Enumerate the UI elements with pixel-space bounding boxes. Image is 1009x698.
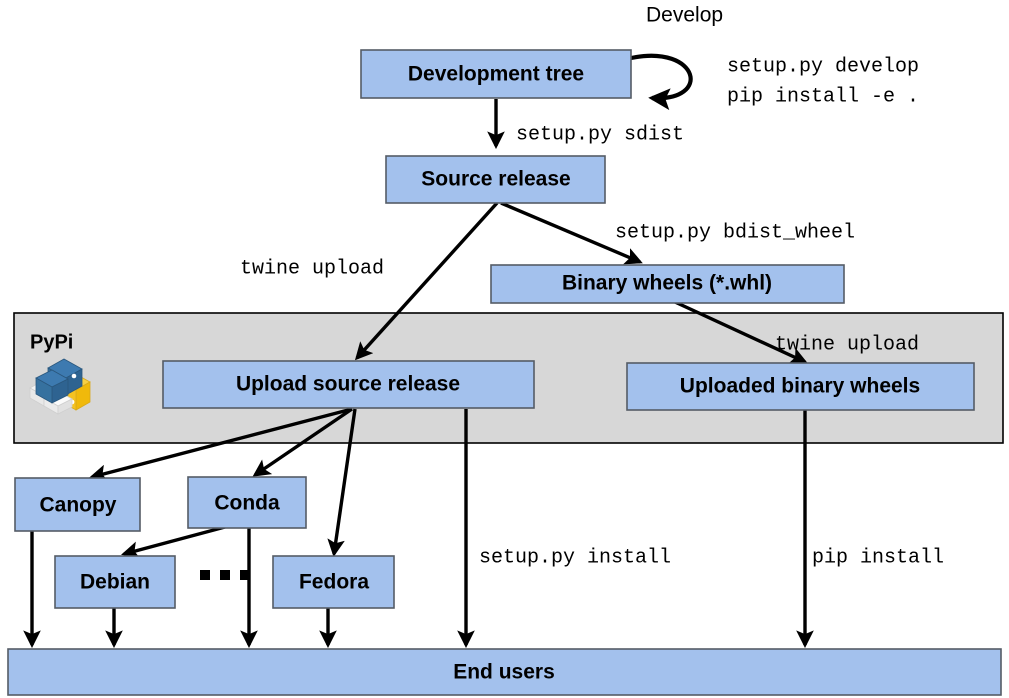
node-conda[interactable]: Conda — [188, 477, 306, 528]
label-twine-upload-wheels: twine upload — [775, 333, 919, 356]
label-develop: Develop — [646, 4, 723, 27]
packaging-flow-diagram: PyPi — [0, 0, 1009, 698]
node-binary-wheels[interactable]: Binary wheels (*.whl) — [491, 265, 844, 303]
fedora-label: Fedora — [299, 571, 369, 594]
node-fedora[interactable]: Fedora — [273, 556, 394, 608]
label-pip-install-editable: pip install -e . — [727, 85, 919, 108]
node-development-tree[interactable]: Development tree — [361, 50, 631, 98]
conda-label: Conda — [214, 492, 280, 515]
canopy-label: Canopy — [39, 494, 116, 517]
node-end-users[interactable]: End users — [8, 649, 1001, 695]
pypi-region-label: PyPi — [30, 331, 73, 353]
end-users-label: End users — [453, 661, 555, 684]
node-uploaded-binary-wheels[interactable]: Uploaded binary wheels — [627, 363, 974, 410]
label-setup-py-sdist: setup.py sdist — [516, 123, 684, 146]
ellipsis-dot-2 — [220, 570, 230, 580]
upload-source-release-label: Upload source release — [236, 373, 460, 396]
diagram-canvas: PyPi — [0, 0, 1009, 698]
debian-label: Debian — [80, 571, 150, 594]
source-release-label: Source release — [421, 168, 570, 191]
node-canopy[interactable]: Canopy — [15, 478, 140, 531]
label-twine-upload-source: twine upload — [240, 257, 384, 280]
node-debian[interactable]: Debian — [55, 556, 175, 608]
uploaded-binary-wheels-label: Uploaded binary wheels — [680, 375, 920, 398]
label-setup-py-bdist-wheel: setup.py bdist_wheel — [615, 221, 855, 244]
ellipsis-dot-3 — [240, 570, 250, 580]
label-setup-py-develop: setup.py develop — [727, 55, 919, 78]
node-upload-source-release[interactable]: Upload source release — [163, 361, 534, 408]
binary-wheels-label: Binary wheels (*.whl) — [562, 272, 772, 295]
development-tree-label: Development tree — [408, 63, 584, 86]
label-setup-py-install: setup.py install — [479, 546, 671, 569]
edge-develop-self-loop — [631, 56, 691, 98]
label-pip-install: pip install — [812, 546, 944, 569]
ellipsis-dot-1 — [200, 570, 210, 580]
node-source-release[interactable]: Source release — [386, 156, 605, 203]
ellipsis-more-distros — [200, 570, 250, 580]
